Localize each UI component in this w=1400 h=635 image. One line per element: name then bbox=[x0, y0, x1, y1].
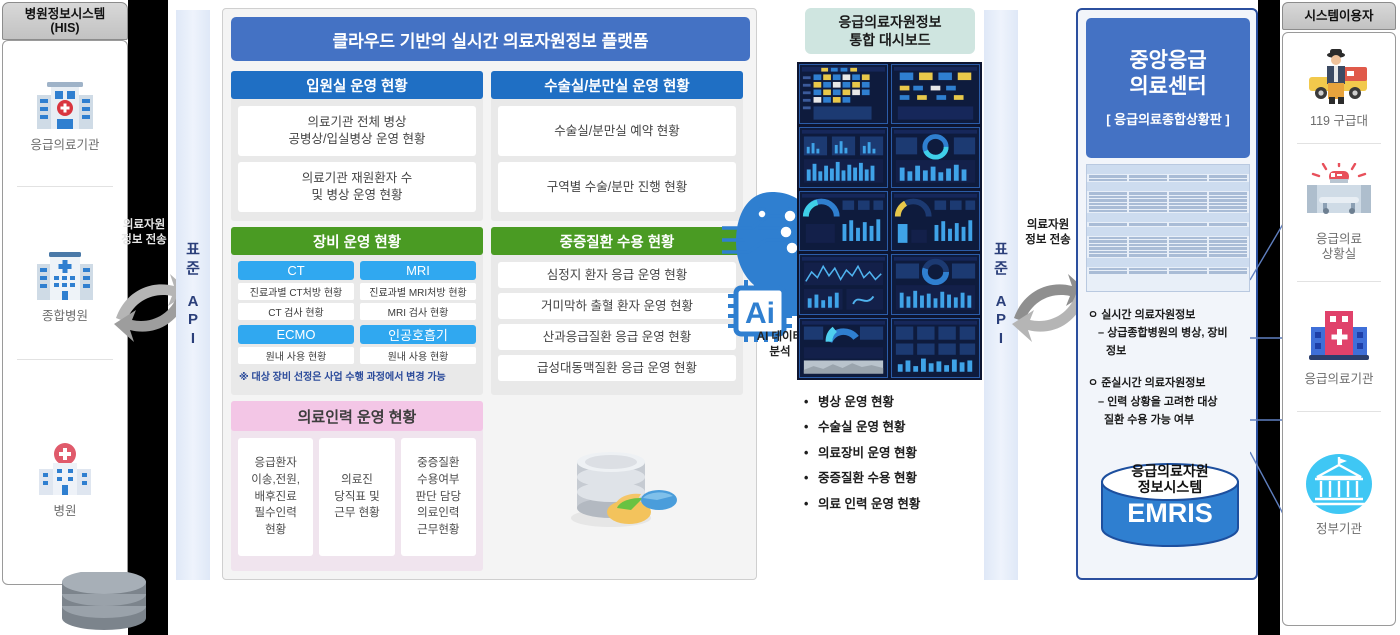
users-divider-1 bbox=[1297, 143, 1381, 144]
severe-disease-row[interactable]: 급성대동맥질환 응급 운영 현황 bbox=[498, 355, 736, 381]
table-row bbox=[1087, 191, 1249, 213]
emris-note-line: ㅇ 실시간 의료자원정보 bbox=[1088, 306, 1252, 324]
government-building-icon bbox=[1301, 451, 1377, 517]
table-section-header bbox=[1087, 258, 1249, 267]
emris-note-marker: – bbox=[1098, 396, 1104, 408]
dashboard-title-line1: 응급의료자원정보 bbox=[838, 13, 941, 31]
api-right-line1: 표 bbox=[994, 241, 1008, 260]
emris-note-line: ㅇ 준실시간 의료자원정보 bbox=[1088, 374, 1252, 392]
dashboard-screen[interactable] bbox=[799, 318, 888, 378]
his-item-label: 종합병원 bbox=[42, 309, 88, 324]
svg-text:정보시스템: 정보시스템 bbox=[1138, 479, 1202, 495]
dashboard-bullet-list: 병상 운영 현황 수술실 운영 현황 의료장비 운영 현황 중증질환 수용 현황… bbox=[800, 390, 990, 517]
medical-staff-cell[interactable]: 응급환자 이송,전원, 배후진료 필수인력 현황 bbox=[238, 438, 313, 556]
emris-note-marker: ㅇ bbox=[1088, 377, 1098, 389]
card-severe-disease[interactable]: 중증질환 수용 현황 심정지 환자 응급 운영 현황 거미막하 출혈 환자 운영… bbox=[491, 227, 743, 395]
equipment-group-ecmo[interactable]: ECMO bbox=[238, 325, 354, 344]
svg-text:EMRIS: EMRIS bbox=[1127, 498, 1213, 528]
his-divider-1 bbox=[17, 186, 113, 187]
card-inpatient[interactable]: 입원실 운영 현황 의료기관 전체 병상 공병상/입실병상 운영 현황 의료기관… bbox=[231, 71, 483, 221]
dashboard-bullet: 의료 인력 운영 현황 bbox=[800, 492, 990, 517]
table-row bbox=[1087, 174, 1249, 182]
users-item-government[interactable]: 정부기관 bbox=[1283, 451, 1395, 537]
hospital-emergency-icon bbox=[33, 75, 97, 133]
emris-note-marker: – bbox=[1098, 327, 1104, 339]
emris-note-line: – 상급종합병원의 병상, 장비 bbox=[1088, 324, 1252, 342]
table-section-header bbox=[1087, 182, 1249, 191]
emris-note-text: 정보 bbox=[1106, 345, 1126, 357]
table-section-header bbox=[1087, 213, 1249, 222]
medical-staff-cell[interactable]: 의료진 당직표 및 근무 현황 bbox=[319, 438, 394, 556]
api-right-line5: I bbox=[999, 330, 1003, 349]
emris-subtitle: [ 응급의료종합상황판 ] bbox=[1106, 109, 1230, 128]
table-section-header bbox=[1087, 165, 1249, 174]
dashboard-title: 응급의료자원정보 통합 대시보드 bbox=[805, 8, 975, 54]
his-header-line2: (HIS) bbox=[50, 21, 79, 35]
equipment-row[interactable]: 원내 사용 현황 bbox=[238, 347, 354, 364]
card-equipment-header: 장비 운영 현황 bbox=[231, 227, 483, 255]
api-right-line4: P bbox=[996, 311, 1006, 330]
emris-header: 중앙응급 의료센터 [ 응급의료종합상황판 ] bbox=[1086, 18, 1250, 158]
emergency-hospital-icon bbox=[1303, 305, 1375, 367]
his-item-label: 응급의료기관 bbox=[30, 138, 99, 153]
users-divider-3 bbox=[1297, 411, 1381, 412]
dashboard-screen[interactable] bbox=[891, 318, 980, 378]
equipment-group-ventilator[interactable]: 인공호흡기 bbox=[360, 325, 476, 344]
api-left-line3: A bbox=[188, 293, 199, 312]
card-operating-room-header: 수술실/분만실 운영 현황 bbox=[491, 71, 743, 99]
severe-disease-row[interactable]: 거미막하 출혈 환자 운영 현황 bbox=[498, 293, 736, 319]
card-severe-disease-header: 중증질환 수용 현황 bbox=[491, 227, 743, 255]
users-header-label: 시스템이용자 bbox=[1304, 9, 1373, 23]
severe-disease-row[interactable]: 심정지 환자 응급 운영 현황 bbox=[498, 262, 736, 288]
users-panel: 119 구급대 응급의료 상황실 bbox=[1282, 32, 1396, 626]
severe-disease-row[interactable]: 산과응급질환 응급 운영 현황 bbox=[498, 324, 736, 350]
users-item-label: 응급의료기관 bbox=[1304, 372, 1373, 387]
transfer-label-left: 의료자원 정보 전송 bbox=[112, 218, 176, 248]
card-equipment[interactable]: 장비 운영 현황 CT 진료과별 CT처방 현황 CT 검사 현황 MRI 진료… bbox=[231, 227, 483, 395]
equipment-row[interactable]: 진료과별 CT처방 현황 bbox=[238, 283, 354, 300]
dashboard-screen[interactable] bbox=[891, 254, 980, 314]
api-left-line2: 준 bbox=[186, 260, 200, 279]
table-section-header bbox=[1087, 227, 1249, 236]
his-database-icon bbox=[58, 572, 150, 635]
dashboard-title-line2: 통합 대시보드 bbox=[838, 31, 941, 49]
emris-note-text: 인력 상황을 고려한 대상 bbox=[1107, 396, 1217, 408]
equipment-note: ※ 대상 장비 선정은 사업 수행 과정에서 변경 가능 bbox=[231, 364, 483, 387]
emris-note-marker: ㅇ bbox=[1088, 309, 1098, 321]
equipment-group-mri[interactable]: MRI bbox=[360, 261, 476, 280]
his-item-general[interactable]: 종합병원 bbox=[3, 246, 127, 324]
api-right-line2: 준 bbox=[994, 260, 1008, 279]
emris-cylinder[interactable]: 응급의료자원 정보시스템 EMRIS bbox=[1100, 462, 1240, 548]
platform-title: 클라우드 기반의 실시간 의료자원정보 플랫폼 bbox=[231, 17, 750, 61]
his-item-emergency[interactable]: 응급의료기관 bbox=[3, 75, 127, 153]
his-item-label: 병원 bbox=[53, 504, 76, 519]
transfer-left-line1: 의료자원 bbox=[112, 218, 176, 233]
emris-note-text: 질환 수용 가능 여부 bbox=[1104, 414, 1194, 426]
equipment-row[interactable]: MRI 검사 현황 bbox=[360, 303, 476, 320]
his-header-line1: 병원정보시스템 bbox=[25, 7, 106, 21]
transfer-left-line2: 정보 전송 bbox=[112, 233, 176, 248]
users-item-label: 119 구급대 bbox=[1310, 114, 1368, 129]
users-panel-header: 시스템이용자 bbox=[1282, 2, 1396, 30]
dashboard-screen[interactable] bbox=[799, 64, 888, 124]
emris-notes: ㅇ 실시간 의료자원정보 – 상급종합병원의 병상, 장비 정보 ㅇ 준실시간 … bbox=[1088, 306, 1252, 429]
card-inpatient-header: 입원실 운영 현황 bbox=[231, 71, 483, 99]
svg-text:응급의료자원: 응급의료자원 bbox=[1131, 463, 1208, 479]
users-item-label: 정부기관 bbox=[1316, 522, 1362, 537]
standard-api-left: 표 준 A P I bbox=[176, 10, 210, 580]
dashboard-screen[interactable] bbox=[891, 64, 980, 124]
svg-text:Ai: Ai bbox=[745, 297, 775, 330]
dashboard-screen[interactable] bbox=[891, 127, 980, 187]
dashboard-bullet: 수술실 운영 현황 bbox=[800, 415, 990, 440]
api-left-line1: 표 bbox=[186, 241, 200, 260]
his-panel: 응급의료기관 종합병원 bbox=[2, 40, 128, 585]
api-left-line4: P bbox=[188, 311, 198, 330]
card-medical-staff[interactable]: 의료인력 운영 현황 응급환자 이송,전원, 배후진료 필수인력 현황 의료진 … bbox=[231, 401, 483, 571]
transfer-right-line1: 의료자원 bbox=[1016, 218, 1080, 233]
dashboard-bullet: 의료장비 운영 현황 bbox=[800, 441, 990, 466]
emris-panel: 중앙응급 의료센터 [ 응급의료종합상황판 ] ㅇ bbox=[1076, 8, 1258, 580]
his-item-clinic[interactable]: 병원 bbox=[3, 441, 127, 519]
emris-note-line: 질환 수용 가능 여부 bbox=[1088, 411, 1252, 429]
card-inpatient-row[interactable]: 의료기관 전체 병상 공병상/입실병상 운영 현황 bbox=[238, 106, 476, 156]
transfer-label-right: 의료자원 정보 전송 bbox=[1016, 218, 1080, 248]
card-medical-staff-header: 의료인력 운영 현황 bbox=[231, 401, 483, 431]
dashboard-screen[interactable] bbox=[799, 254, 888, 314]
api-right-line3: A bbox=[996, 293, 1007, 312]
equipment-row[interactable]: CT 검사 현황 bbox=[238, 303, 354, 320]
his-divider-2 bbox=[17, 359, 113, 360]
hospital-clinic-icon bbox=[33, 441, 97, 499]
emris-note-line: – 인력 상황을 고려한 대상 bbox=[1088, 393, 1252, 411]
equipment-group-ct[interactable]: CT bbox=[238, 261, 354, 280]
dashboard-screen[interactable] bbox=[891, 191, 980, 251]
card-operating-room-row[interactable]: 구역별 수술/분만 진행 현황 bbox=[498, 162, 736, 212]
equipment-row[interactable]: 원내 사용 현황 bbox=[360, 347, 476, 364]
emris-status-board-table[interactable] bbox=[1086, 164, 1250, 292]
platform-database-analytics-icon bbox=[565, 440, 685, 535]
emergency-control-room-icon bbox=[1301, 163, 1377, 227]
table-row bbox=[1087, 267, 1249, 275]
dashboard-screen[interactable] bbox=[799, 127, 888, 187]
emris-title-line2: 의료센터 bbox=[1129, 74, 1206, 99]
emris-title-line1: 중앙응급 bbox=[1129, 48, 1206, 73]
emris-note-line: 정보 bbox=[1088, 342, 1252, 360]
users-item-emergency-hospital[interactable]: 응급의료기관 bbox=[1283, 305, 1395, 387]
emris-note-text: 상급종합병원의 병상, 장비 bbox=[1107, 327, 1228, 339]
users-item-119[interactable]: 119 구급대 bbox=[1283, 47, 1395, 129]
emris-note-text: 실시간 의료자원정보 bbox=[1101, 309, 1195, 321]
equipment-row[interactable]: 진료과별 MRI처방 현황 bbox=[360, 283, 476, 300]
transfer-right-line2: 정보 전송 bbox=[1016, 233, 1080, 248]
dashboard-screen[interactable] bbox=[799, 191, 888, 251]
dashboard-bullet: 중증질환 수용 현황 bbox=[800, 466, 990, 491]
table-row bbox=[1087, 236, 1249, 258]
card-inpatient-row[interactable]: 의료기관 재원환자 수 및 병상 운영 현황 bbox=[238, 162, 476, 212]
his-panel-header: 병원정보시스템 (HIS) bbox=[2, 2, 128, 40]
card-operating-room-row[interactable]: 수술실/분만실 예약 현황 bbox=[498, 106, 736, 156]
medical-staff-cell[interactable]: 중증질환 수용여부 판단 담당 의료인력 근무현황 bbox=[401, 438, 476, 556]
users-item-control-room[interactable]: 응급의료 상황실 bbox=[1283, 163, 1395, 262]
hospital-general-icon bbox=[33, 246, 97, 304]
card-operating-room[interactable]: 수술실/분만실 운영 현황 수술실/분만실 예약 현황 구역별 수술/분만 진행… bbox=[491, 71, 743, 221]
users-item-label: 응급의료 상황실 bbox=[1316, 232, 1362, 262]
dashboard-screens-grid[interactable] bbox=[797, 62, 982, 380]
emris-note-text: 준실시간 의료자원정보 bbox=[1101, 377, 1205, 389]
api-left-line5: I bbox=[191, 330, 195, 349]
ambulance-crew-icon bbox=[1303, 47, 1375, 109]
users-divider-2 bbox=[1297, 281, 1381, 282]
dashboard-bullet: 병상 운영 현황 bbox=[800, 390, 990, 415]
